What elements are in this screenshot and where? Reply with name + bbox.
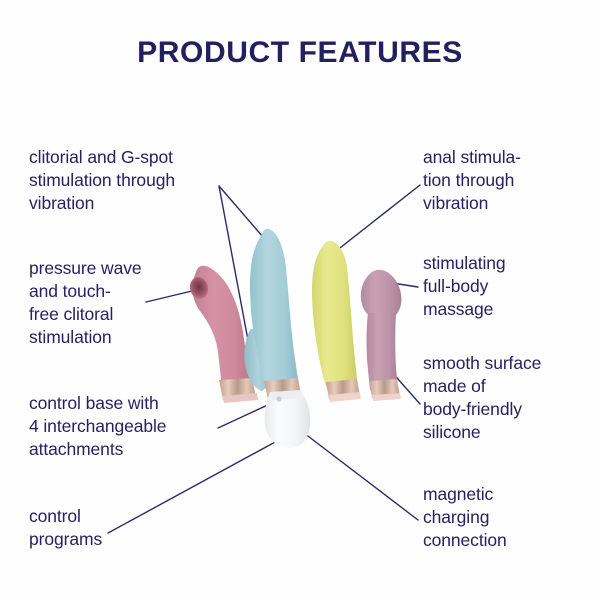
control-base-body	[265, 391, 311, 448]
mauve-attachment-body	[367, 313, 399, 390]
callout-control-base: control base with 4 interchangeable atta…	[29, 392, 244, 461]
callout-control-programs: control programs	[29, 505, 189, 551]
control-base-button-icon	[276, 396, 281, 401]
product-features-infographic: PRODUCT FEATURES	[0, 0, 600, 600]
callout-pressure-wave: pressure wave and touch- free clitoral s…	[29, 257, 214, 349]
callout-anal-stimulation: anal stimula- tion through vibration	[423, 146, 588, 215]
callout-smooth-surface: smooth surface made of body-friendly sil…	[423, 352, 595, 444]
leader-line-anal-stimulation	[331, 185, 420, 255]
callout-full-body-massage: stimulating full-body massage	[423, 252, 588, 321]
mauve-wand-attachment	[361, 270, 402, 401]
white-control-base	[265, 390, 311, 448]
callout-magnetic-charging: magnetic charging connection	[423, 483, 588, 552]
leader-line-magnetic-charging	[300, 430, 418, 520]
yellow-attachment-body	[312, 241, 358, 392]
light-blue-rabbit-attachment	[244, 229, 301, 399]
callout-clitorial-gspot: clitorial and G-spot stimulation through…	[29, 146, 239, 215]
yellow-gspot-attachment	[312, 241, 361, 402]
